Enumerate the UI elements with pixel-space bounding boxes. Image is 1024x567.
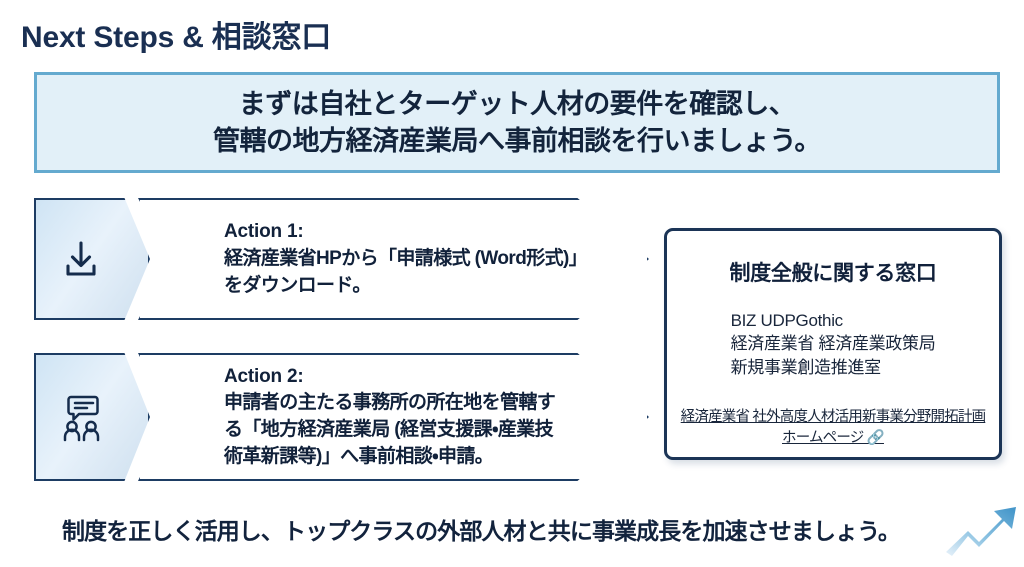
footer-message: 制度を正しく活用し、トップクラスの外部人材と共に事業成長を加速させましょう。 bbox=[62, 512, 900, 546]
action-2-label: Action 2: bbox=[224, 363, 555, 391]
contact-box-title: 制度全般に関する窓口 bbox=[730, 257, 937, 287]
action-2-line-3: 術革新課等)」へ事前相談・申請。 bbox=[224, 444, 555, 471]
action-2-icon-chevron bbox=[34, 353, 150, 481]
action-2-line-2: る「地方経済産業局 (経営支援課・産業技 bbox=[224, 417, 555, 444]
action-2-line-1: 申請者の主たる事務所の所在地を管轄す bbox=[224, 390, 555, 417]
contact-organization: BIZ UDPGothic 経済産業省 経済産業政策局 新規事業創造推進室 bbox=[731, 309, 936, 379]
homepage-link-line-2[interactable]: ホームページ 🔗 bbox=[681, 428, 986, 449]
contact-info-box: 制度全般に関する窓口 BIZ UDPGothic 経済産業省 経済産業政策局 新… bbox=[664, 228, 1002, 460]
action-1-line-2: をダウンロード。 bbox=[224, 273, 587, 300]
banner-line-1: まずは自社とターゲット人材の要件を確認し、 bbox=[239, 86, 796, 122]
banner-line-2: 管轄の地方経済産業局へ事前相談を行いましょう。 bbox=[213, 123, 821, 159]
consultation-people-icon bbox=[58, 392, 108, 442]
growth-arrow-icon bbox=[944, 500, 1020, 562]
action-1-line-1: 経済産業省HPから「申請様式 (Word形式)」 bbox=[224, 246, 587, 273]
contact-org-line-1: BIZ UDPGothic bbox=[731, 309, 936, 332]
page-title: Next Steps & 相談窓口 bbox=[21, 12, 331, 56]
highlight-banner: まずは自社とターゲット人材の要件を確認し、 管轄の地方経済産業局へ事前相談を行い… bbox=[34, 72, 1000, 173]
action-2-text-chevron: Action 2: 申請者の主たる事務所の所在地を管轄す る「地方経済産業局 (… bbox=[138, 353, 649, 481]
action-1-text-chevron: Action 1: 経済産業省HPから「申請様式 (Word形式)」 をダウンロ… bbox=[138, 198, 649, 320]
action-1-label: Action 1: bbox=[224, 218, 587, 246]
contact-org-line-3: 新規事業創造推進室 bbox=[731, 356, 936, 379]
homepage-link-line-1[interactable]: 経済産業省 社外高度人材活用新事業分野開拓計画 bbox=[681, 407, 986, 428]
action-1-icon-chevron bbox=[34, 198, 150, 320]
contact-org-line-2: 経済産業省 経済産業政策局 bbox=[731, 332, 936, 355]
homepage-link[interactable]: 経済産業省 社外高度人材活用新事業分野開拓計画 ホームページ 🔗 bbox=[681, 407, 986, 449]
download-icon bbox=[58, 236, 104, 282]
